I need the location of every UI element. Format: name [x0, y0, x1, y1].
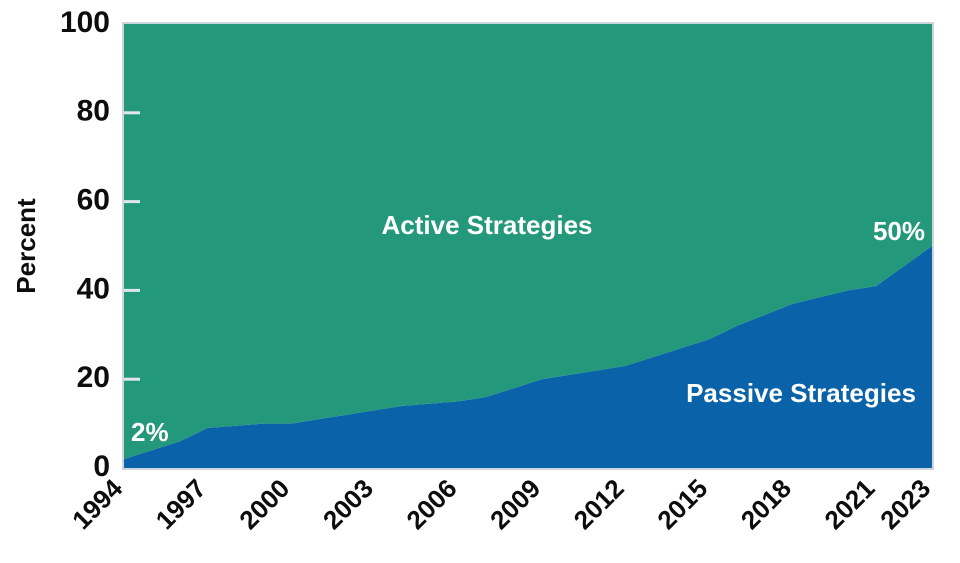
series-label-active: Active Strategies — [382, 210, 593, 240]
y-axis-title: Percent — [11, 198, 41, 294]
chart-canvas: 020406080100 199419972000200320062009201… — [0, 0, 960, 563]
annotation-end-value: 50% — [873, 216, 925, 246]
y-axis-tick-label: 20 — [77, 361, 110, 394]
annotation-start-value: 2% — [131, 417, 169, 447]
y-axis-tick-label: 100 — [60, 6, 110, 39]
stacked-area-chart: 020406080100 199419972000200320062009201… — [0, 0, 960, 563]
y-axis-tick-label: 80 — [77, 95, 110, 128]
y-axis-tick-label: 40 — [77, 272, 110, 305]
series-label-passive: Passive Strategies — [686, 378, 916, 408]
y-axis-tick-label: 60 — [77, 184, 110, 217]
